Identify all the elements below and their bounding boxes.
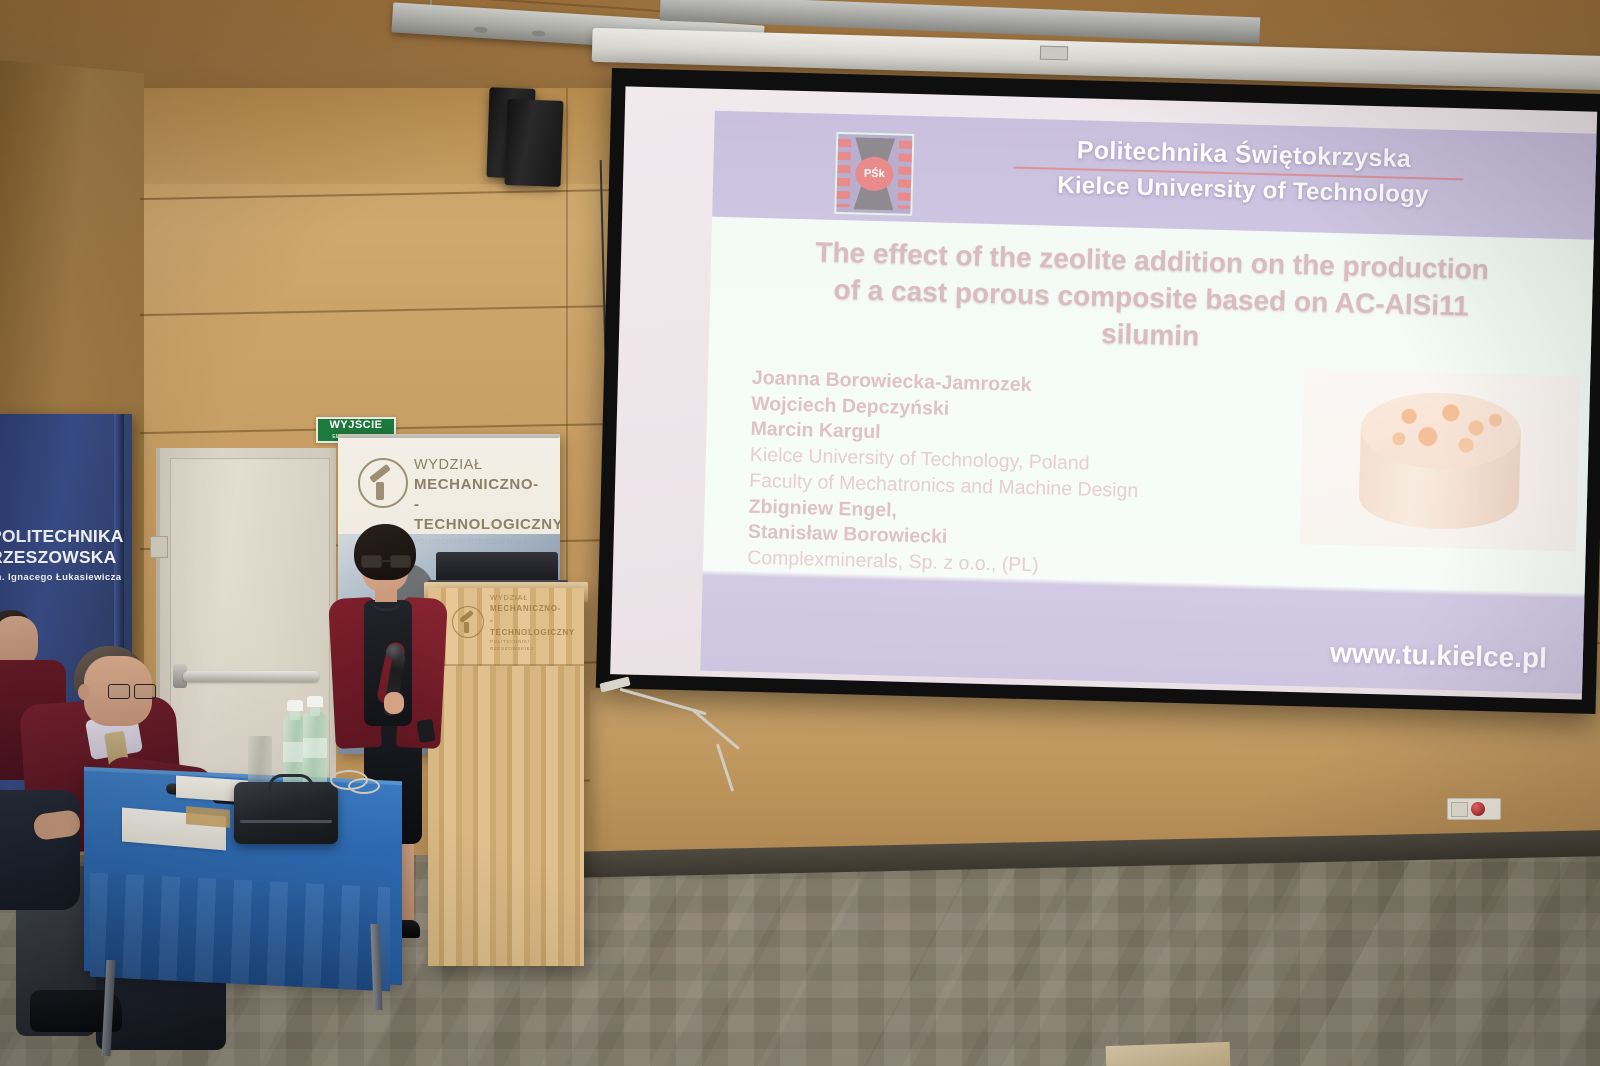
robot-arm-logo-icon (358, 458, 408, 508)
banner-text: POLITECHNIKA RZESZOWSKA im. Ignacego Łuk… (0, 526, 130, 583)
podium-emblem-line-3: -TECHNOLOGICZNY (490, 615, 575, 639)
chairperson-glasses-icon (108, 684, 154, 697)
banner-line-2: RZESZOWSKA (0, 547, 130, 568)
podium-emblem-line-1: WYDZIAŁ (490, 592, 575, 603)
camera-bag[interactable] (234, 782, 338, 844)
screen-housing-clip (1040, 46, 1068, 61)
wall-speaker (505, 99, 564, 187)
conference-photo-scene: PŚk Politechnika Świętokrzyska Kielce Un… (0, 0, 1600, 1066)
chairperson-ear (78, 684, 90, 700)
screen-surface: PŚk Politechnika Świętokrzyska Kielce Un… (610, 86, 1597, 699)
presenter-glasses-icon (361, 555, 409, 566)
outlet-socket[interactable] (1451, 802, 1468, 817)
podium-robot-arm-icon (452, 606, 484, 638)
banner-line-1: POLITECHNIKA (0, 526, 130, 547)
logo-monogram: PŚk (855, 156, 894, 191)
presentation-clicker[interactable] (417, 719, 436, 743)
bag-handle[interactable] (268, 774, 314, 791)
exit-sign-label: WYJŚCIE (329, 419, 382, 431)
table-skirt (90, 873, 390, 992)
slide-footer-band (700, 575, 1584, 693)
outlet-indicator-light (1471, 802, 1485, 816)
rollup-line-1: WYDZIAŁ (414, 456, 560, 475)
door-push-bar[interactable] (183, 671, 319, 682)
bottle-cap[interactable] (307, 696, 323, 707)
bottle-label (303, 738, 327, 758)
envelope-on-floor (1106, 1042, 1231, 1066)
door-wall-plate (150, 536, 168, 558)
coiled-cable (348, 778, 380, 794)
rollup-line-2: MECHANICZNO- (414, 475, 560, 495)
wall-outlet-plate[interactable] (1447, 798, 1501, 820)
slide-title: The effect of the zeolite addition on th… (735, 231, 1568, 364)
podium-emblem: WYDZIAŁ MECHANICZNO- -TECHNOLOGICZNY POL… (452, 596, 562, 648)
bag-zipper[interactable] (240, 820, 332, 823)
banner-top-cap (338, 434, 560, 438)
bottle-cap[interactable] (287, 700, 303, 711)
composite-sample-photo (1300, 369, 1580, 551)
presenter-hair (354, 524, 416, 580)
podium-emblem-line-2: MECHANICZNO- (490, 603, 575, 615)
slide-author-list: Joanna Borowiecka-Jamrozek Wojciech Depc… (747, 366, 1222, 584)
podium-emblem-text: WYDZIAŁ MECHANICZNO- -TECHNOLOGICZNY POL… (490, 592, 575, 653)
logo-film-strip-right (897, 141, 912, 209)
paper-band (186, 806, 230, 828)
banner-line-3: im. Ignacego Łukasiewicza (0, 572, 130, 583)
slide-content: PŚk Politechnika Świętokrzyska Kielce Un… (700, 111, 1596, 694)
presenter-hand (384, 692, 404, 714)
logo-film-strip-left (836, 139, 851, 207)
attendee-shoulder (0, 790, 80, 910)
podium-emblem-line-4: POLITECHNIKI RZESZOWSKIEJ (490, 639, 575, 653)
slide-footer-url: www.tu.kielce.pl (1330, 637, 1548, 675)
projection-screen: PŚk Politechnika Świętokrzyska Kielce Un… (596, 68, 1600, 714)
kielce-university-logo-icon: PŚk (834, 132, 914, 216)
